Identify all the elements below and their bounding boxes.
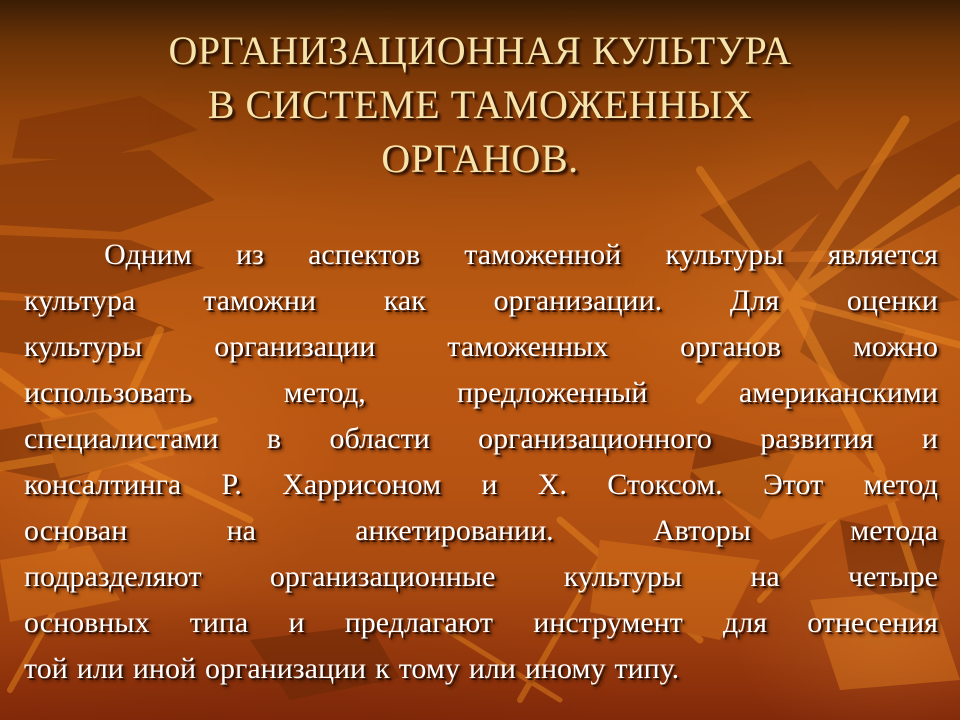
body-line: культурыорганизациитаможенныхоргановможн… xyxy=(24,324,938,370)
body-word: Одним xyxy=(104,232,192,278)
body-word: предлагают xyxy=(345,600,493,646)
body-line: основныхтипаипредлагаютинструментдляотне… xyxy=(24,600,938,646)
body-word: метода xyxy=(850,508,938,554)
presentation-slide: ОРГАНИЗАЦИОННАЯ КУЛЬТУРА В СИСТЕМЕ ТАМОЖ… xyxy=(0,0,960,720)
body-word: и xyxy=(288,600,304,646)
body-line: использоватьметод,предложенныйамериканск… xyxy=(24,370,938,416)
body-word: использовать xyxy=(24,370,192,416)
body-word: к xyxy=(375,646,390,692)
body-word: типа xyxy=(190,600,249,646)
body-word: культуры xyxy=(665,232,783,278)
body-word: культуры xyxy=(564,554,682,600)
body-word: основных xyxy=(24,600,150,646)
body-word: четыре xyxy=(848,554,938,600)
body-word: является xyxy=(828,232,938,278)
body-word: и xyxy=(481,462,497,508)
body-word: типу. xyxy=(614,646,679,692)
body-line: тойилиинойорганизацииктомуилииномутипу. xyxy=(24,646,938,692)
body-line: культуратаможникакорганизации.Дляоценки xyxy=(24,278,938,324)
body-word: таможенной xyxy=(464,232,621,278)
body-word: иной xyxy=(133,646,196,692)
body-word: предложенный xyxy=(457,370,647,416)
body-word: культуры xyxy=(24,324,142,370)
body-word: культура xyxy=(24,278,135,324)
body-word: таможни xyxy=(203,278,316,324)
body-word: аспектов xyxy=(308,232,420,278)
body-word: организации. xyxy=(494,278,663,324)
body-word: как xyxy=(384,278,426,324)
body-word: на xyxy=(750,554,779,600)
body-word: метод, xyxy=(284,370,366,416)
body-word: для xyxy=(723,600,767,646)
body-word: организации xyxy=(214,324,375,370)
title-line-1: ОРГАНИЗАЦИОННАЯ КУЛЬТУРА xyxy=(40,24,920,78)
body-line: консалтингаР.ХаррисономиХ.Стоксом.Этотме… xyxy=(24,462,938,508)
body-word: органов xyxy=(680,324,781,370)
body-word: Этот xyxy=(763,462,823,508)
body-word: американскими xyxy=(739,370,938,416)
body-word: или xyxy=(469,646,516,692)
body-word: на xyxy=(227,508,256,554)
body-word: метод xyxy=(864,462,938,508)
body-word: оценки xyxy=(847,278,938,324)
body-word: основан xyxy=(24,508,127,554)
body-word: развития xyxy=(760,416,873,462)
body-word: той xyxy=(24,646,68,692)
body-word: анкетировании. xyxy=(355,508,553,554)
body-word: Р. xyxy=(222,462,242,508)
body-word: организационного xyxy=(478,416,712,462)
body-word: таможенных xyxy=(447,324,608,370)
body-word: Харрисоном xyxy=(282,462,441,508)
body-word: Авторы xyxy=(653,508,751,554)
title-line-3: ОРГАНОВ. xyxy=(40,132,920,186)
body-word: иному xyxy=(525,646,606,692)
body-word: консалтинга xyxy=(24,462,181,508)
body-line: основаннаанкетировании.Авторыметода xyxy=(24,508,938,554)
body-word: специалистами xyxy=(24,416,219,462)
body-word: подразделяют xyxy=(24,554,202,600)
body-word: тому xyxy=(399,646,460,692)
body-line: специалистамивобластиорганизационногораз… xyxy=(24,416,938,462)
body-word: Стоксом. xyxy=(607,462,722,508)
body-word: организационные xyxy=(270,554,496,600)
body-word: Х. xyxy=(538,462,567,508)
body-line: подразделяюторганизационныекультурыначет… xyxy=(24,554,938,600)
body-word: или xyxy=(77,646,124,692)
body-word: Для xyxy=(730,278,779,324)
body-word: в xyxy=(267,416,281,462)
slide-body-text: Однимизаспектовтаможеннойкультурыявляетс… xyxy=(24,232,938,692)
slide-title: ОРГАНИЗАЦИОННАЯ КУЛЬТУРА В СИСТЕМЕ ТАМОЖ… xyxy=(40,24,920,186)
body-word: отнесения xyxy=(807,600,938,646)
body-line: Однимизаспектовтаможеннойкультурыявляетс… xyxy=(24,232,938,278)
body-word: можно xyxy=(853,324,938,370)
body-word: и xyxy=(922,416,938,462)
body-word: организации xyxy=(205,646,366,692)
body-word: из xyxy=(236,232,264,278)
title-line-2: В СИСТЕМЕ ТАМОЖЕННЫХ xyxy=(40,78,920,132)
body-word: области xyxy=(329,416,429,462)
body-word: инструмент xyxy=(533,600,683,646)
